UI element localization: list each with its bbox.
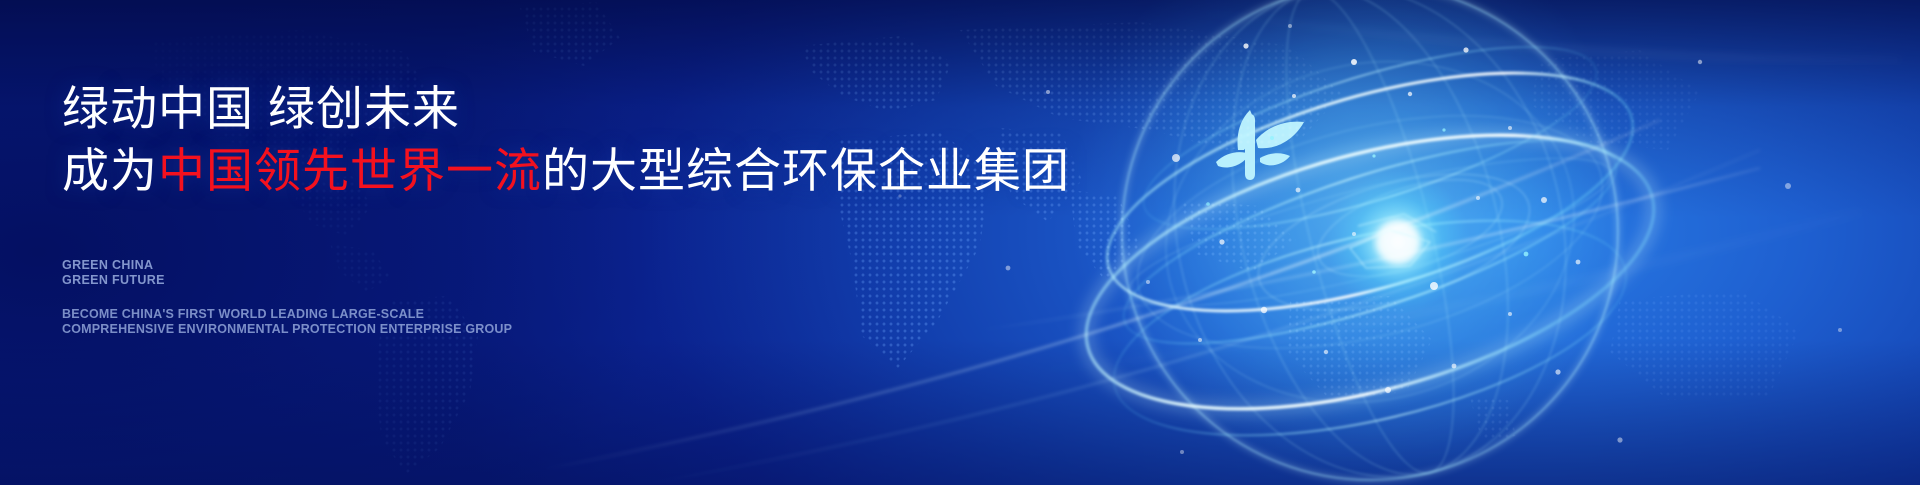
headline: 绿动中国 绿创未来 成为中国领先世界一流的大型综合环保企业集团 (62, 78, 1070, 202)
green-tagline-line-1: GREEN CHINA (62, 258, 165, 273)
green-tagline-line-2: GREEN FUTURE (62, 273, 165, 288)
copy-block: 绿动中国 绿创未来 成为中国领先世界一流的大型综合环保企业集团 GREEN CH… (62, 0, 1062, 485)
english-tagline-line-2: COMPREHENSIVE ENVIRONMENTAL PROTECTION E… (62, 322, 512, 337)
headline-line2-prefix: 成为 (62, 144, 158, 197)
english-tagline-line-1: BECOME CHINA'S FIRST WORLD LEADING LARGE… (62, 307, 512, 322)
english-tagline: BECOME CHINA'S FIRST WORLD LEADING LARGE… (62, 307, 512, 336)
headline-line2-highlight: 中国领先世界一流 (158, 144, 542, 197)
headline-line-2: 成为中国领先世界一流的大型综合环保企业集团 (62, 140, 1070, 202)
green-tagline: GREEN CHINA GREEN FUTURE (62, 258, 165, 287)
headline-line2-suffix: 的大型综合环保企业集团 (542, 144, 1070, 197)
headline-line-1: 绿动中国 绿创未来 (62, 82, 460, 135)
hero-banner: 绿动中国 绿创未来 成为中国领先世界一流的大型综合环保企业集团 GREEN CH… (0, 0, 1920, 485)
